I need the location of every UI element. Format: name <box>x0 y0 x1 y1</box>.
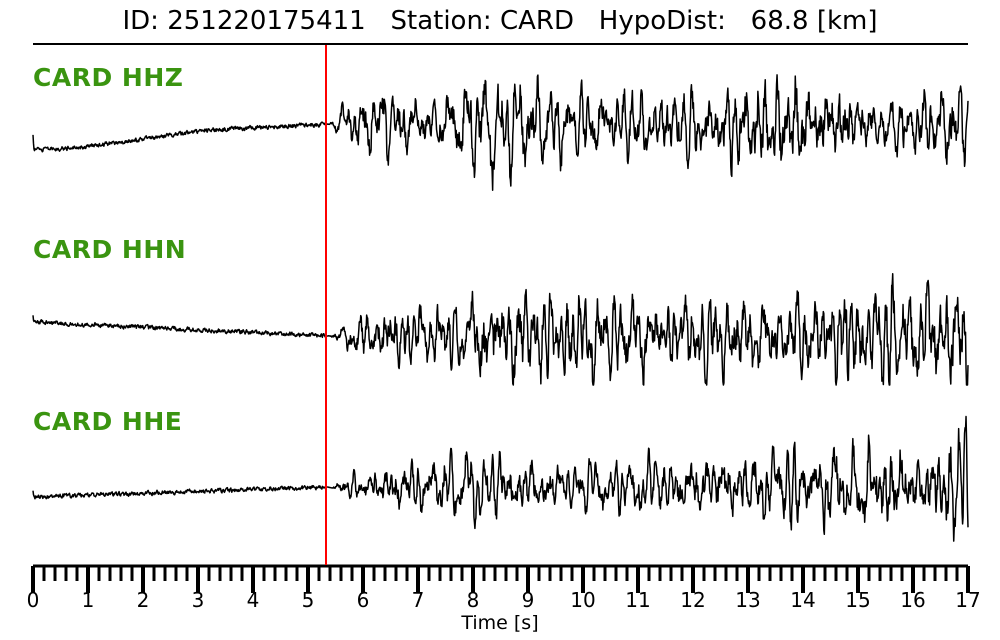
time-axis-tick-1: 1 <box>82 588 95 612</box>
time-axis-label: Time [s] <box>0 612 1000 634</box>
time-axis-tick-6: 6 <box>357 588 370 612</box>
time-axis-tick-16: 16 <box>900 588 925 612</box>
time-axis-tick-5: 5 <box>302 588 315 612</box>
time-axis-tick-2: 2 <box>137 588 150 612</box>
p-pick-line <box>325 45 327 565</box>
time-axis-tick-4: 4 <box>247 588 260 612</box>
time-axis-tick-7: 7 <box>412 588 425 612</box>
time-axis-tick-17: 17 <box>955 588 980 612</box>
time-axis-tick-14: 14 <box>790 588 815 612</box>
trace-label-hhn: CARD HHN <box>33 235 186 264</box>
trace-panel-hhz: CARD HHZ <box>0 45 1000 215</box>
trace-label-hhz: CARD HHZ <box>33 63 183 92</box>
time-axis-tick-11: 11 <box>625 588 650 612</box>
time-axis-tick-12: 12 <box>680 588 705 612</box>
time-axis-tick-13: 13 <box>735 588 760 612</box>
time-axis-tick-8: 8 <box>467 588 480 612</box>
plot-title-text: ID: 251220175411 Station: CARD HypoDist:… <box>122 6 877 36</box>
time-axis: 01234567891011121314151617 Time [s] <box>0 560 1000 640</box>
time-axis-tick-15: 15 <box>845 588 870 612</box>
plot-title: ID: 251220175411 Station: CARD HypoDist:… <box>0 4 1000 38</box>
time-axis-tick-10: 10 <box>570 588 595 612</box>
trace-label-hhe: CARD HHE <box>33 407 182 436</box>
time-axis-tick-9: 9 <box>522 588 535 612</box>
trace-panel-hhn: CARD HHN <box>0 217 1000 387</box>
time-axis-tick-0: 0 <box>27 588 40 612</box>
trace-panel-hhe: CARD HHE <box>0 389 1000 559</box>
time-axis-tick-3: 3 <box>192 588 205 612</box>
seismogram-page: ID: 251220175411 Station: CARD HypoDist:… <box>0 0 1000 640</box>
waveform-plot-area: CARD HHZ CARD HHN CARD HHE <box>0 45 1000 555</box>
